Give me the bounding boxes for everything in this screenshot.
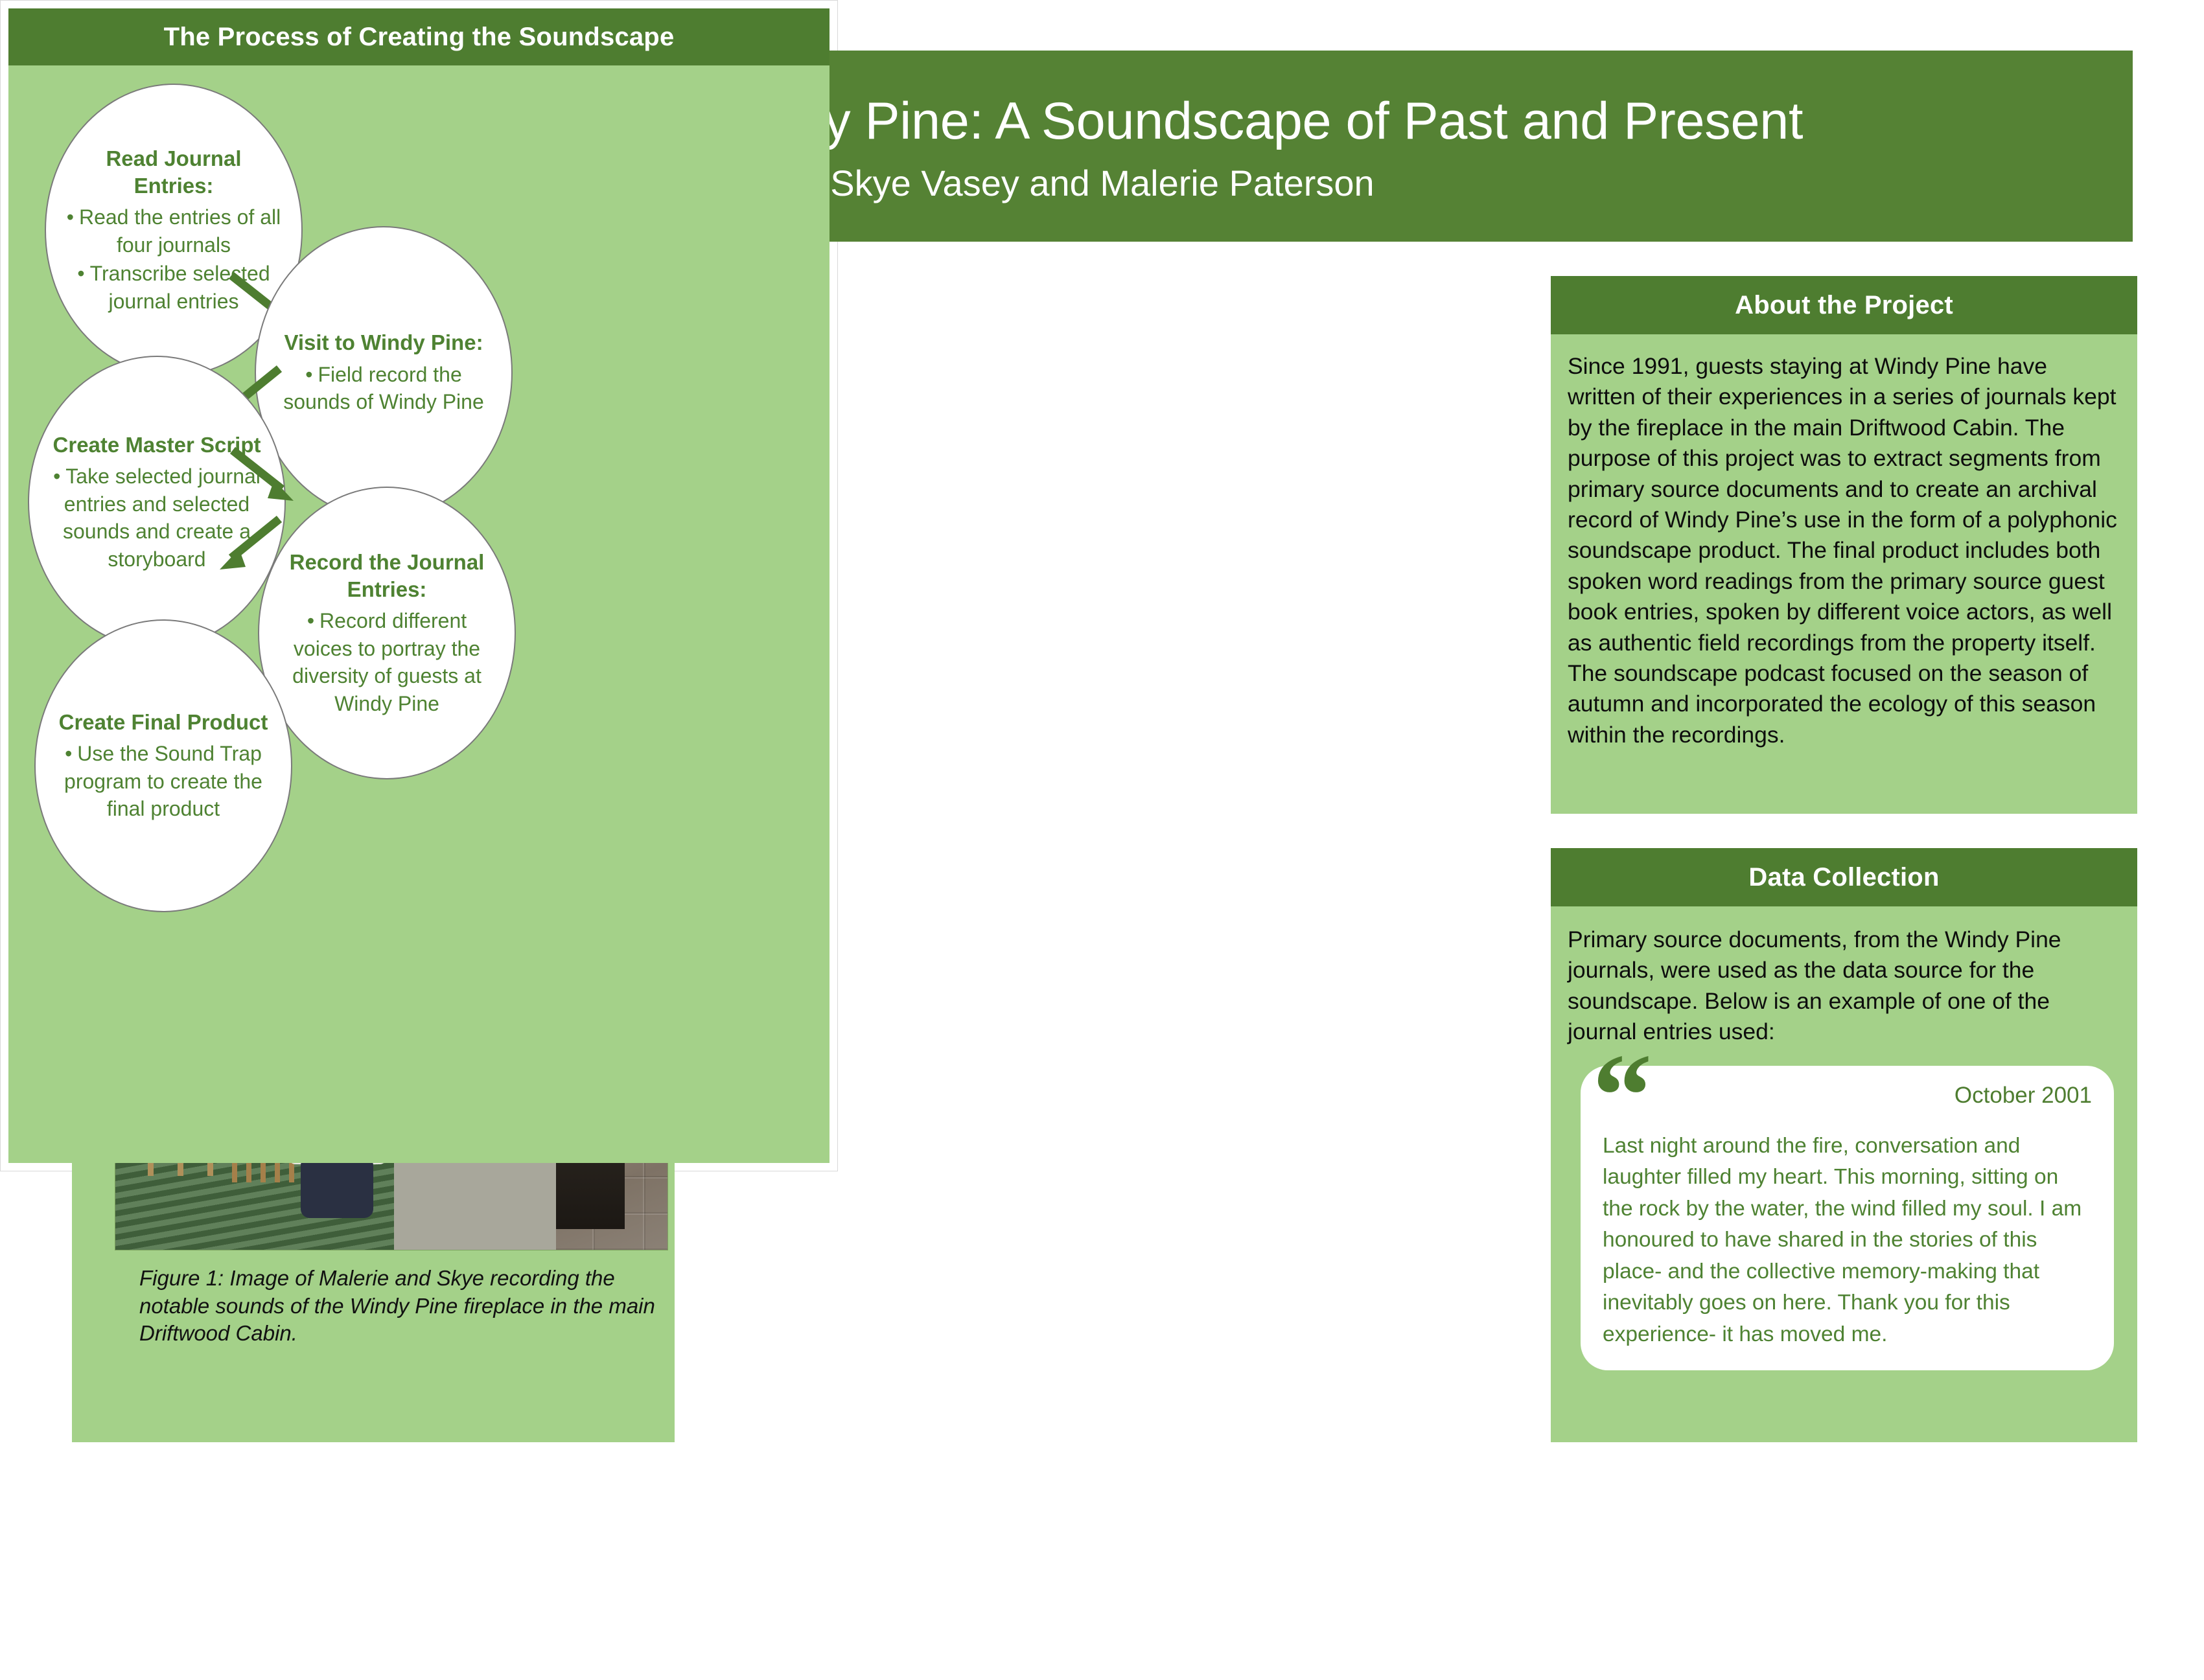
middle-panel-header: The Process of Creating the Soundscape [8, 8, 829, 65]
process-step-record-journal-entries: Record the Journal Entries: •Record diff… [258, 487, 516, 779]
step-2-title: Visit to Windy Pine: [284, 329, 483, 356]
footer: TRENT UNIVERSITY Trent Community Researc… [0, 1460, 2204, 1680]
quote-mark-icon: “ [1592, 1036, 1653, 1156]
panel-data-collection: Data Collection Primary source documents… [1551, 848, 2137, 1442]
quote-text: Last night around the fire, conversation… [1603, 1131, 2092, 1351]
step-2-bullet-1: •Field record the sounds of Windy Pine [275, 361, 492, 416]
step-1-bullet-1: •Read the entries of all four journals [65, 203, 282, 259]
panel-about-the-project: About the Project Since 1991, guests sta… [1551, 276, 2137, 814]
poster-authors: Skye Vasey and Malerie Paterson [830, 163, 1374, 203]
data-collection-panel-body: Primary source documents, from the Windy… [1551, 906, 2137, 1370]
panel-process-soundscape: The Process of Creating the Soundscape R… [0, 0, 838, 1171]
about-panel-body: Since 1991, guests staying at Windy Pine… [1551, 334, 2137, 750]
flow-arrow-4 [215, 515, 286, 573]
poster-canvas: Voices From Windy Pine: A Soundscape of … [0, 0, 2204, 1680]
process-step-create-final-product: Create Final Product •Use the Sound Trap… [34, 619, 292, 912]
data-collection-panel-header: Data Collection [1551, 848, 2137, 906]
about-panel-header: About the Project [1551, 276, 2137, 334]
flow-arrow-3 [229, 446, 300, 505]
about-project-text: Since 1991, guests staying at Windy Pine… [1568, 351, 2120, 750]
step-5-bullet-1: •Use the Sound Trap program to create th… [55, 740, 272, 823]
quote-date: October 2001 [1603, 1083, 2092, 1109]
journal-quote-block: “ October 2001 Last night around the fir… [1581, 1066, 2114, 1370]
step-4-bullet-1: •Record different voices to portray the … [279, 607, 495, 717]
step-4-title: Record the Journal Entries: [279, 549, 495, 603]
process-flow-diagram: Read Journal Entries: •Read the entries … [8, 65, 829, 1163]
figure-1-caption: Figure 1: Image of Malerie and Skye reco… [139, 1265, 684, 1348]
step-5-title: Create Final Product [59, 709, 268, 736]
quote-card: October 2001 Last night around the fire,… [1581, 1066, 2114, 1370]
step-1-title: Read Journal Entries: [65, 145, 282, 200]
